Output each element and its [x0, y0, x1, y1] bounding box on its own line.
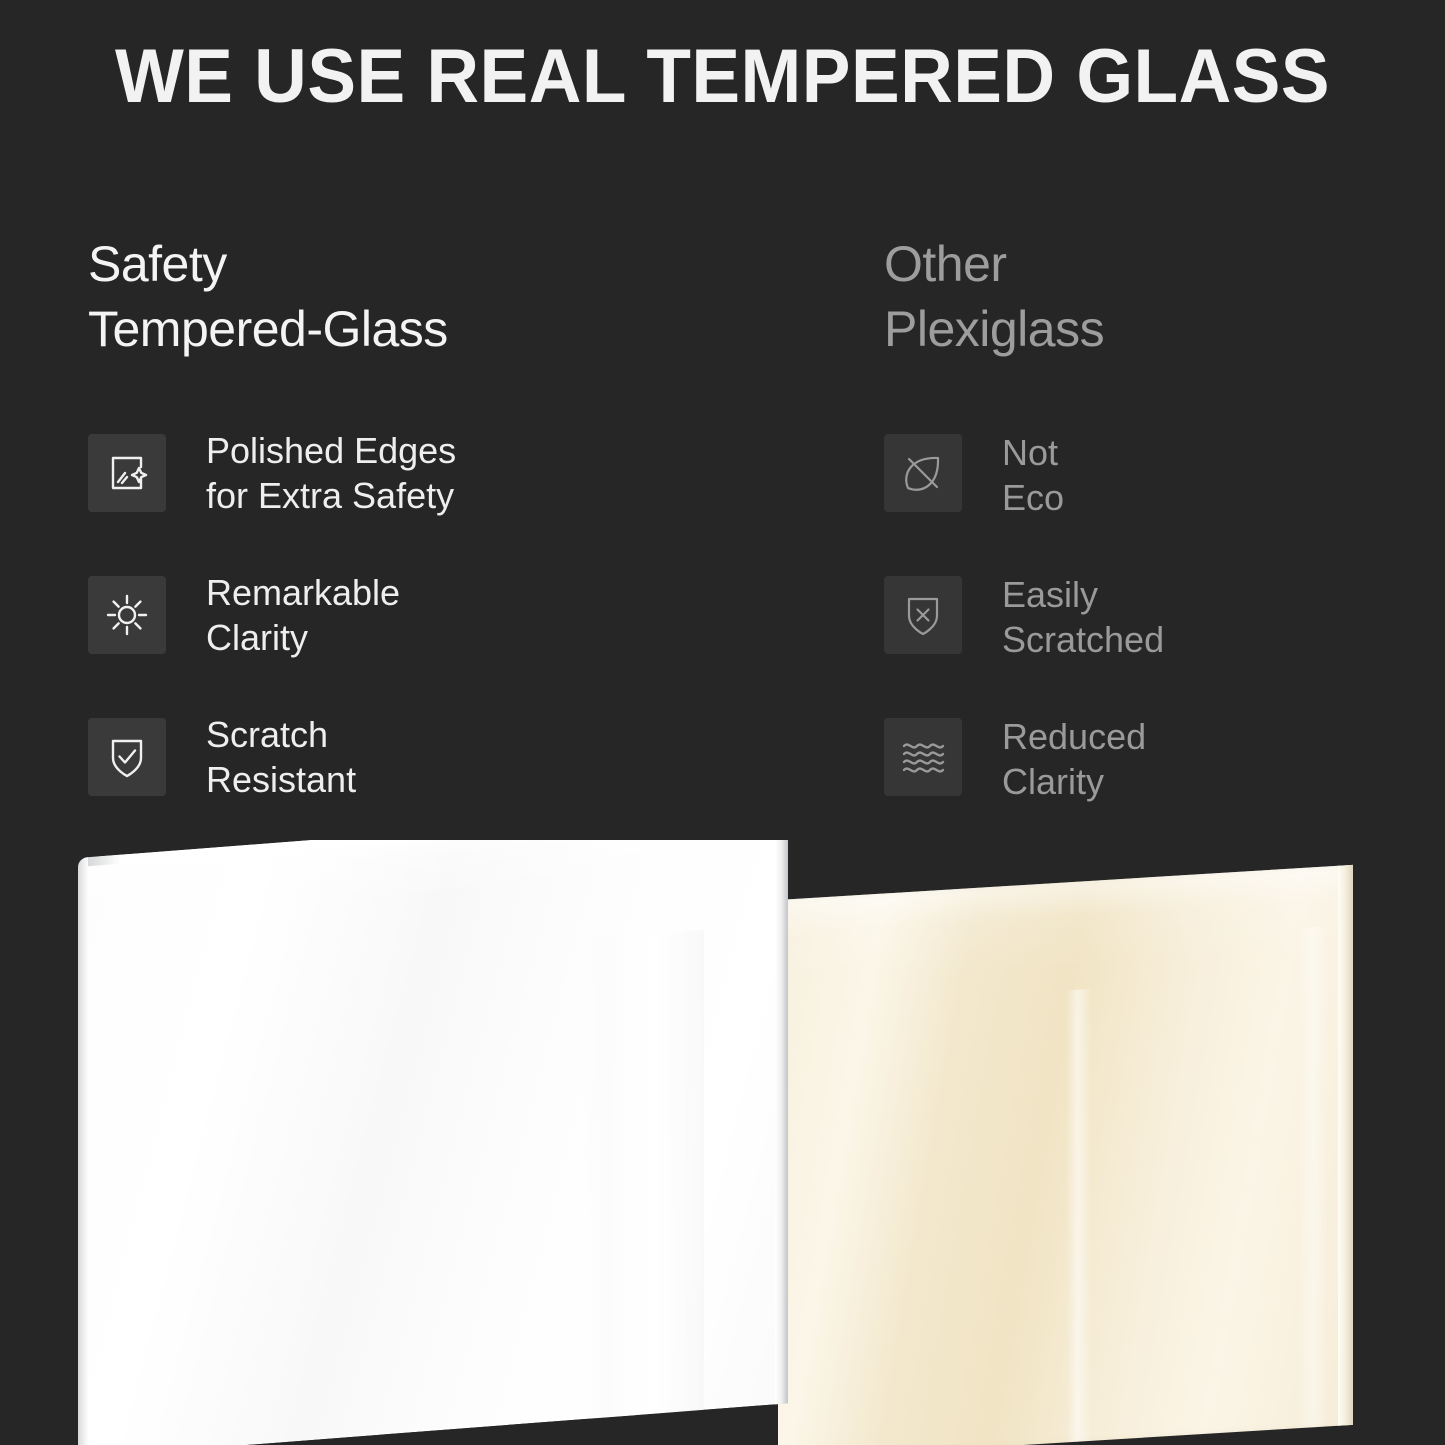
sun-brightness-icon	[88, 576, 166, 654]
shield-check-icon	[88, 718, 166, 796]
glass-reflection-streak	[584, 930, 704, 1419]
leaf-crossed-out-icon	[884, 434, 962, 512]
glass-polished-edge	[78, 857, 88, 1445]
feature-label: Remarkable Clarity	[206, 570, 400, 660]
feature-label: Reduced Clarity	[1002, 714, 1146, 804]
feature-item: Polished Edges for Extra Safety	[88, 434, 648, 576]
feature-list: Polished Edges for Extra Safety Remarkab…	[88, 434, 648, 860]
glass-panels-image	[0, 840, 1445, 1445]
comparison-columns: Safety Tempered-Glass Polished Edges for…	[0, 232, 1445, 852]
feature-item: Easily Scratched	[884, 576, 1444, 718]
column-other-plexiglass: Other Plexiglass Not Eco	[884, 232, 1444, 362]
feature-label: Not Eco	[1002, 430, 1064, 520]
column-title: Other Plexiglass	[884, 232, 1444, 362]
feature-label: Easily Scratched	[1002, 572, 1164, 662]
shield-x-icon	[884, 576, 962, 654]
tempered-glass-sheet	[78, 840, 788, 1445]
feature-label: Polished Edges for Extra Safety	[206, 428, 456, 518]
feature-list: Not Eco Easily Scratched	[884, 434, 1444, 860]
plexiglass-sheet	[778, 865, 1353, 1445]
column-safety-tempered-glass: Safety Tempered-Glass Polished Edges for…	[88, 232, 648, 362]
feature-item: Reduced Clarity	[884, 718, 1444, 860]
page-title: WE USE REAL TEMPERED GLASS	[29, 36, 1416, 118]
plexi-reflection-streak	[1066, 989, 1092, 1443]
plexi-reflection-streak	[1298, 926, 1328, 1428]
polished-glass-sparkle-icon	[88, 434, 166, 512]
wavy-lines-icon	[884, 718, 962, 796]
feature-item: Scratch Resistant	[88, 718, 648, 860]
product-comparison-infographic: WE USE REAL TEMPERED GLASS Safety Temper…	[0, 0, 1445, 1445]
column-title: Safety Tempered-Glass	[88, 232, 648, 362]
feature-item: Remarkable Clarity	[88, 576, 648, 718]
feature-label: Scratch Resistant	[206, 712, 356, 802]
feature-item: Not Eco	[884, 434, 1444, 576]
